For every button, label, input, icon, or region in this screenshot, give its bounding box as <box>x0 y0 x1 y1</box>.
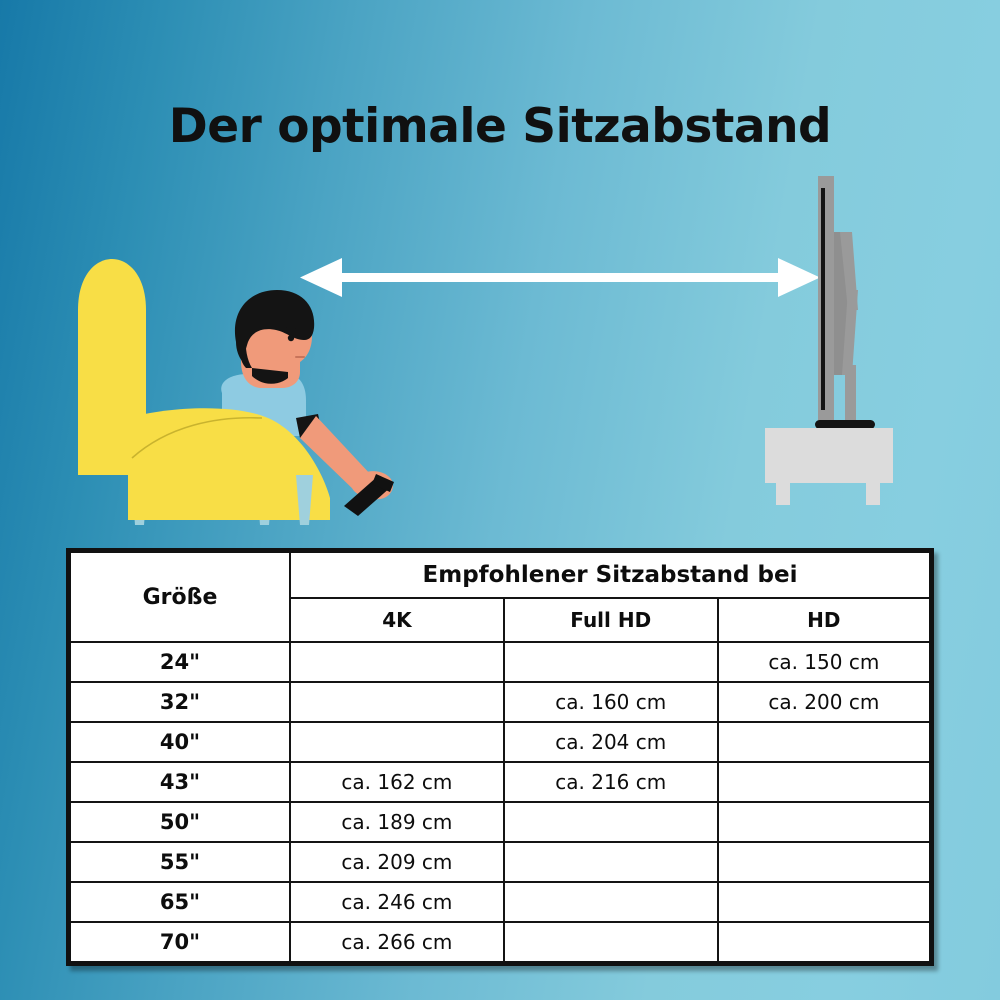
tv-screen-edge-icon <box>821 188 825 410</box>
tv-panel-back-icon <box>818 176 834 421</box>
cell-full-hd: ca. 204 cm <box>504 722 718 762</box>
cell-hd <box>718 922 932 964</box>
cell-size: 55" <box>69 842 291 882</box>
cell-size: 70" <box>69 922 291 964</box>
header-hd: HD <box>718 598 932 642</box>
infographic-page: Der optimale Sitzabstand <box>0 0 1000 1000</box>
table-row: 50" ca. 189 cm <box>69 802 932 842</box>
cell-4k <box>290 642 504 682</box>
cell-4k <box>290 682 504 722</box>
cell-4k: ca. 162 cm <box>290 762 504 802</box>
table-row: 65" ca. 246 cm <box>69 882 932 922</box>
tv-cabinet-leg-right-icon <box>866 483 880 505</box>
cell-size: 24" <box>69 642 291 682</box>
tv-cabinet-leg-left-icon <box>776 483 790 505</box>
cell-size: 40" <box>69 722 291 762</box>
cell-full-hd <box>504 642 718 682</box>
seating-distance-table: Größe Empfohlener Sitzabstand bei 4K Ful… <box>66 548 934 966</box>
table-row: 43" ca. 162 cm ca. 216 cm <box>69 762 932 802</box>
illustration-area <box>0 150 1000 530</box>
table-row: 24" ca. 150 cm <box>69 642 932 682</box>
armchair-group <box>78 259 396 530</box>
cell-full-hd <box>504 882 718 922</box>
person-eye-icon <box>288 335 294 341</box>
table-row: 70" ca. 266 cm <box>69 922 932 964</box>
table-row: 32" ca. 160 cm ca. 200 cm <box>69 682 932 722</box>
table-header-row-1: Größe Empfohlener Sitzabstand bei <box>69 551 932 599</box>
table-header: Größe Empfohlener Sitzabstand bei 4K Ful… <box>69 551 932 643</box>
cell-hd: ca. 150 cm <box>718 642 932 682</box>
header-full-hd: Full HD <box>504 598 718 642</box>
cell-size: 50" <box>69 802 291 842</box>
table-row: 40" ca. 204 cm <box>69 722 932 762</box>
cell-full-hd <box>504 922 718 964</box>
tv-stand-base-icon <box>815 420 875 429</box>
tv-cabinet-group <box>765 428 893 505</box>
cell-hd <box>718 842 932 882</box>
cell-hd: ca. 200 cm <box>718 682 932 722</box>
tv-cabinet-icon <box>765 428 893 483</box>
cell-hd <box>718 762 932 802</box>
cell-full-hd: ca. 216 cm <box>504 762 718 802</box>
cell-4k: ca. 209 cm <box>290 842 504 882</box>
page-title: Der optimale Sitzabstand <box>0 99 1000 154</box>
header-group: Empfohlener Sitzabstand bei <box>290 551 932 599</box>
seating-distance-table-wrapper: Größe Empfohlener Sitzabstand bei 4K Ful… <box>66 548 934 966</box>
cell-full-hd: ca. 160 cm <box>504 682 718 722</box>
tv-stand-neck-icon <box>845 365 856 427</box>
television-group <box>815 176 875 429</box>
header-4k: 4K <box>290 598 504 642</box>
cell-full-hd <box>504 842 718 882</box>
cell-size: 65" <box>69 882 291 922</box>
cell-hd <box>718 882 932 922</box>
cell-4k: ca. 246 cm <box>290 882 504 922</box>
cell-4k <box>290 722 504 762</box>
cell-4k: ca. 266 cm <box>290 922 504 964</box>
cell-hd <box>718 722 932 762</box>
distance-arrow <box>300 258 820 297</box>
cell-hd <box>718 802 932 842</box>
cell-size: 43" <box>69 762 291 802</box>
cell-4k: ca. 189 cm <box>290 802 504 842</box>
cell-size: 32" <box>69 682 291 722</box>
table-body: 24" ca. 150 cm 32" ca. 160 cm ca. 200 cm… <box>69 642 932 964</box>
table-row: 55" ca. 209 cm <box>69 842 932 882</box>
cell-full-hd <box>504 802 718 842</box>
header-size: Größe <box>69 551 291 643</box>
